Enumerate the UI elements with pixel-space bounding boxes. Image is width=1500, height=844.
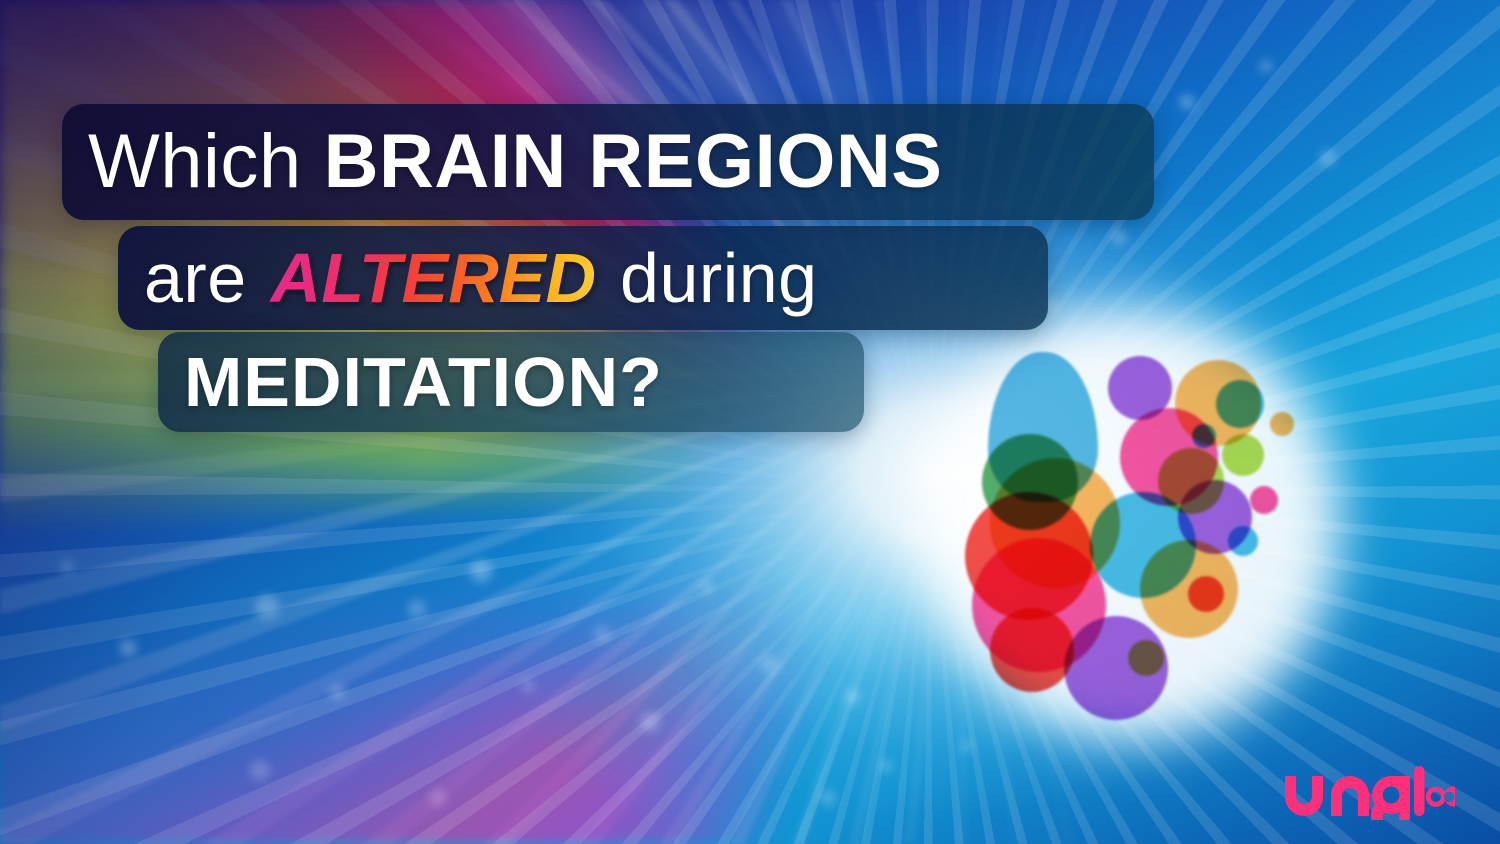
- bokeh-dot: [255, 595, 279, 619]
- bokeh-dot: [700, 580, 714, 594]
- headline-line-2: are ALTERED during: [118, 226, 1048, 330]
- headline-word-are: are: [144, 243, 247, 313]
- blob-lime-far: [1222, 434, 1264, 476]
- bokeh-dot: [330, 685, 344, 699]
- bokeh-dot: [60, 560, 74, 574]
- blob-red-chin: [990, 608, 1074, 692]
- bokeh-dot: [1260, 60, 1272, 72]
- headline-line-3: MEDITATION?: [158, 332, 864, 432]
- blob-cyan-tiny: [1192, 424, 1216, 448]
- blob-cyan-far: [1216, 380, 1264, 428]
- headline-words-brain-regions: BRAIN REGIONS: [324, 124, 943, 200]
- bokeh-dot: [120, 640, 136, 656]
- headline-word-meditation: MEDITATION?: [184, 347, 663, 417]
- bokeh-dot: [408, 600, 426, 618]
- head-silhouette-artwork: [960, 340, 1390, 760]
- bokeh-dot: [1112, 230, 1126, 244]
- bokeh-dot: [760, 655, 778, 673]
- bokeh-dot: [250, 760, 270, 780]
- bokeh-dot: [1180, 95, 1194, 109]
- bokeh-dot: [594, 626, 610, 642]
- headline-word-which: Which: [88, 124, 302, 200]
- ungloo-logo[interactable]: [1283, 766, 1455, 820]
- bokeh-dot: [880, 760, 892, 772]
- bokeh-dot: [845, 690, 859, 704]
- blob-cyan-far2: [1228, 526, 1258, 556]
- bokeh-dot: [430, 790, 446, 806]
- blob-orange-tiny: [1270, 412, 1294, 436]
- blob-red-small: [1188, 576, 1224, 612]
- blob-pink-far: [1250, 486, 1278, 514]
- bokeh-dot: [470, 560, 492, 582]
- bokeh-dot: [1320, 150, 1336, 166]
- bokeh-dot: [820, 790, 836, 806]
- headline-word-during: during: [620, 243, 818, 313]
- bokeh-dot: [640, 712, 660, 732]
- banner-canvas: Which BRAIN REGIONS are ALTERED during M…: [0, 0, 1500, 844]
- headline-word-altered-highlight: ALTERED: [269, 243, 598, 313]
- bokeh-dot: [522, 680, 534, 692]
- blob-green-neck: [1128, 640, 1164, 676]
- headline-line-1: Which BRAIN REGIONS: [62, 104, 1154, 220]
